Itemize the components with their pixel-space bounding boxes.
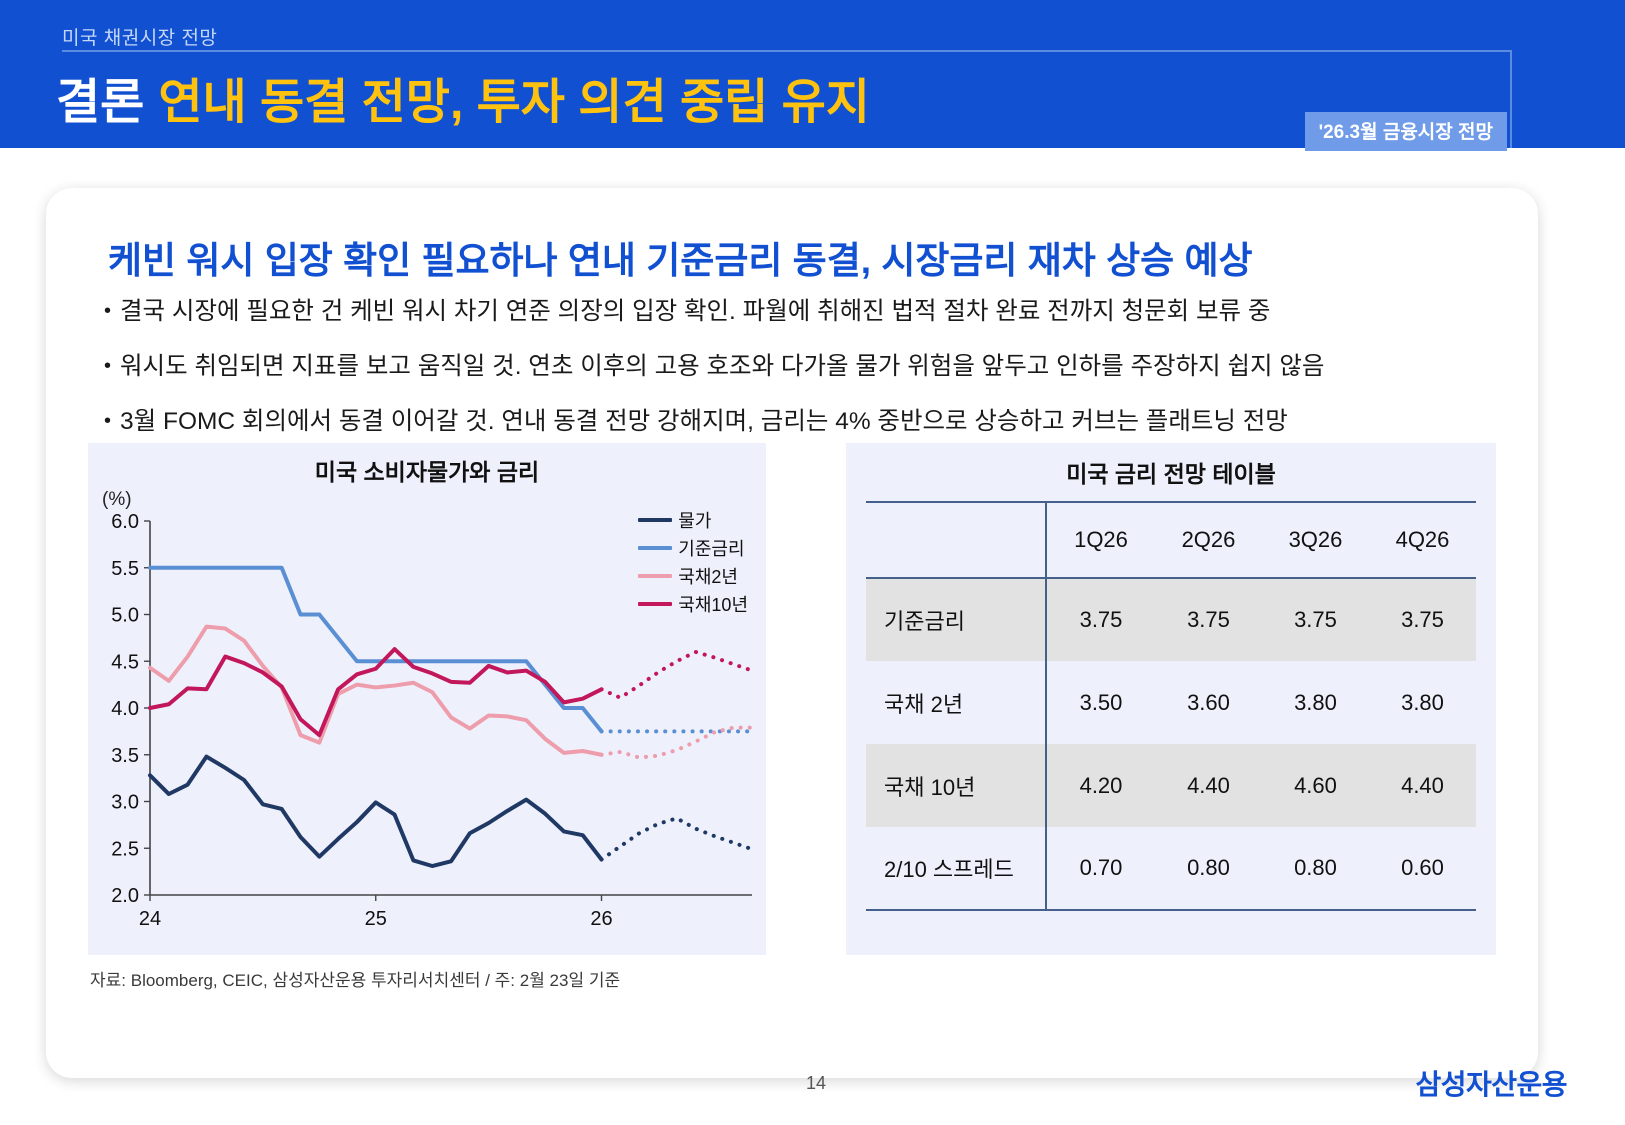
- legend-swatch-icon: [638, 546, 672, 550]
- legend-label: 국채2년: [678, 563, 738, 589]
- bullet-list: • 결국 시장에 필요한 건 케빈 워시 차기 연준 의장의 입장 확인. 파월…: [104, 298, 1494, 463]
- table-cell: 0.70: [1046, 827, 1155, 910]
- svg-text:2.0: 2.0: [111, 885, 139, 907]
- table-header-row: 1Q262Q263Q264Q26: [866, 502, 1476, 578]
- header-rule-vertical: [1510, 50, 1512, 148]
- legend-label: 물가: [678, 507, 711, 533]
- legend-swatch-icon: [638, 574, 672, 578]
- table-head: 1Q262Q263Q264Q26: [866, 502, 1476, 578]
- table-body: 기준금리3.753.753.753.75국채 2년3.503.603.803.8…: [866, 578, 1476, 910]
- table-cell: 4.40: [1369, 744, 1476, 827]
- svg-text:24: 24: [139, 908, 161, 930]
- table-row: 국채 2년3.503.603.803.80: [866, 661, 1476, 744]
- table-cell: 4.20: [1046, 744, 1155, 827]
- svg-text:3.0: 3.0: [111, 792, 139, 814]
- table-cell: 0.80: [1155, 827, 1262, 910]
- svg-text:2.5: 2.5: [111, 838, 139, 860]
- slide-root: 미국 채권시장 전망 결론 연내 동결 전망, 투자 의견 중립 유지 '26.…: [0, 0, 1625, 1125]
- svg-text:4.0: 4.0: [111, 698, 139, 720]
- table-title: 미국 금리 전망 테이블: [846, 455, 1496, 489]
- list-item-text: 3월 FOMC 회의에서 동결 이어갈 것. 연내 동결 전망 강해지며, 금리…: [120, 408, 1288, 437]
- table-row-label: 국채 2년: [866, 661, 1046, 744]
- table-row-label: 2/10 스프레드: [866, 827, 1046, 910]
- bullet-marker-icon: •: [104, 298, 111, 325]
- chart-legend: 물가기준금리국채2년국채10년: [638, 507, 748, 617]
- legend-swatch-icon: [638, 518, 672, 522]
- table-cell: 3.50: [1046, 661, 1155, 744]
- legend-label: 기준금리: [678, 535, 744, 561]
- header-kicker: 미국 채권시장 전망: [62, 23, 217, 50]
- table-col-header: 2Q26: [1155, 502, 1262, 578]
- table-cell: 3.75: [1262, 578, 1369, 661]
- list-item: • 워시도 취임되면 지표를 보고 움직일 것. 연초 이후의 고용 호조와 다…: [104, 353, 1494, 382]
- page-number: 14: [806, 1073, 826, 1094]
- legend-swatch-icon: [638, 602, 672, 606]
- page-title: 결론 연내 동결 전망, 투자 의견 중립 유지: [56, 62, 870, 132]
- header-rule: [62, 50, 1512, 52]
- legend-item: 물가: [638, 507, 748, 533]
- table-col-header-blank: [866, 502, 1046, 578]
- legend-item: 국채2년: [638, 563, 748, 589]
- table-row-label: 국채 10년: [866, 744, 1046, 827]
- list-item: • 3월 FOMC 회의에서 동결 이어갈 것. 연내 동결 전망 강해지며, …: [104, 408, 1494, 437]
- page-title-rest: 연내 동결 전망, 투자 의견 중립 유지: [158, 62, 870, 132]
- slide-header: 미국 채권시장 전망 결론 연내 동결 전망, 투자 의견 중립 유지 '26.…: [0, 0, 1625, 148]
- list-item: • 결국 시장에 필요한 건 케빈 워시 차기 연준 의장의 입장 확인. 파월…: [104, 298, 1494, 327]
- chart-panel: 미국 소비자물가와 금리 (%) 2.02.53.03.54.04.55.05.…: [88, 443, 766, 955]
- table-col-header: 3Q26: [1262, 502, 1369, 578]
- svg-text:3.5: 3.5: [111, 745, 139, 767]
- table-cell: 3.75: [1369, 578, 1476, 661]
- table-cell: 3.60: [1155, 661, 1262, 744]
- legend-label: 국채10년: [678, 591, 748, 617]
- bullet-marker-icon: •: [104, 353, 111, 380]
- svg-text:6.0: 6.0: [111, 511, 139, 533]
- svg-text:5.0: 5.0: [111, 605, 139, 627]
- content-headline: 케빈 워시 입장 확인 필요하나 연내 기준금리 동결, 시장금리 재차 상승 …: [108, 230, 1253, 284]
- table-cell: 3.80: [1262, 661, 1369, 744]
- forecast-table-panel: 미국 금리 전망 테이블 1Q262Q263Q264Q26 기준금리3.753.…: [846, 443, 1496, 955]
- table-cell: 0.80: [1262, 827, 1369, 910]
- table-row-label: 기준금리: [866, 578, 1046, 661]
- table-cell: 3.75: [1155, 578, 1262, 661]
- svg-text:26: 26: [590, 908, 612, 930]
- table-row: 기준금리3.753.753.753.75: [866, 578, 1476, 661]
- company-logo: 삼성자산운용: [1415, 1063, 1567, 1103]
- table-row: 국채 10년4.204.404.604.40: [866, 744, 1476, 827]
- page-title-lead: 결론: [56, 62, 144, 132]
- legend-item: 기준금리: [638, 535, 748, 561]
- table-row: 2/10 스프레드0.700.800.800.60: [866, 827, 1476, 910]
- header-badge: '26.3월 금융시장 전망: [1305, 112, 1507, 151]
- table-col-header: 1Q26: [1046, 502, 1155, 578]
- svg-text:4.5: 4.5: [111, 651, 139, 673]
- source-note: 자료: Bloomberg, CEIC, 삼성자산운용 투자리서치센터 / 주:…: [90, 966, 620, 991]
- bullet-marker-icon: •: [104, 408, 111, 435]
- list-item-text: 워시도 취임되면 지표를 보고 움직일 것. 연초 이후의 고용 호조와 다가올…: [120, 353, 1324, 382]
- legend-item: 국채10년: [638, 591, 748, 617]
- forecast-table: 1Q262Q263Q264Q26 기준금리3.753.753.753.75국채 …: [866, 501, 1476, 911]
- table-cell: 4.60: [1262, 744, 1369, 827]
- table-cell: 3.75: [1046, 578, 1155, 661]
- svg-text:5.5: 5.5: [111, 558, 139, 580]
- table-cell: 0.60: [1369, 827, 1476, 910]
- svg-text:25: 25: [365, 908, 387, 930]
- table-cell: 4.40: [1155, 744, 1262, 827]
- list-item-text: 결국 시장에 필요한 건 케빈 워시 차기 연준 의장의 입장 확인. 파월에 …: [120, 298, 1270, 327]
- table-col-header: 4Q26: [1369, 502, 1476, 578]
- content-card: 케빈 워시 입장 확인 필요하나 연내 기준금리 동결, 시장금리 재차 상승 …: [46, 188, 1538, 1078]
- table-cell: 3.80: [1369, 661, 1476, 744]
